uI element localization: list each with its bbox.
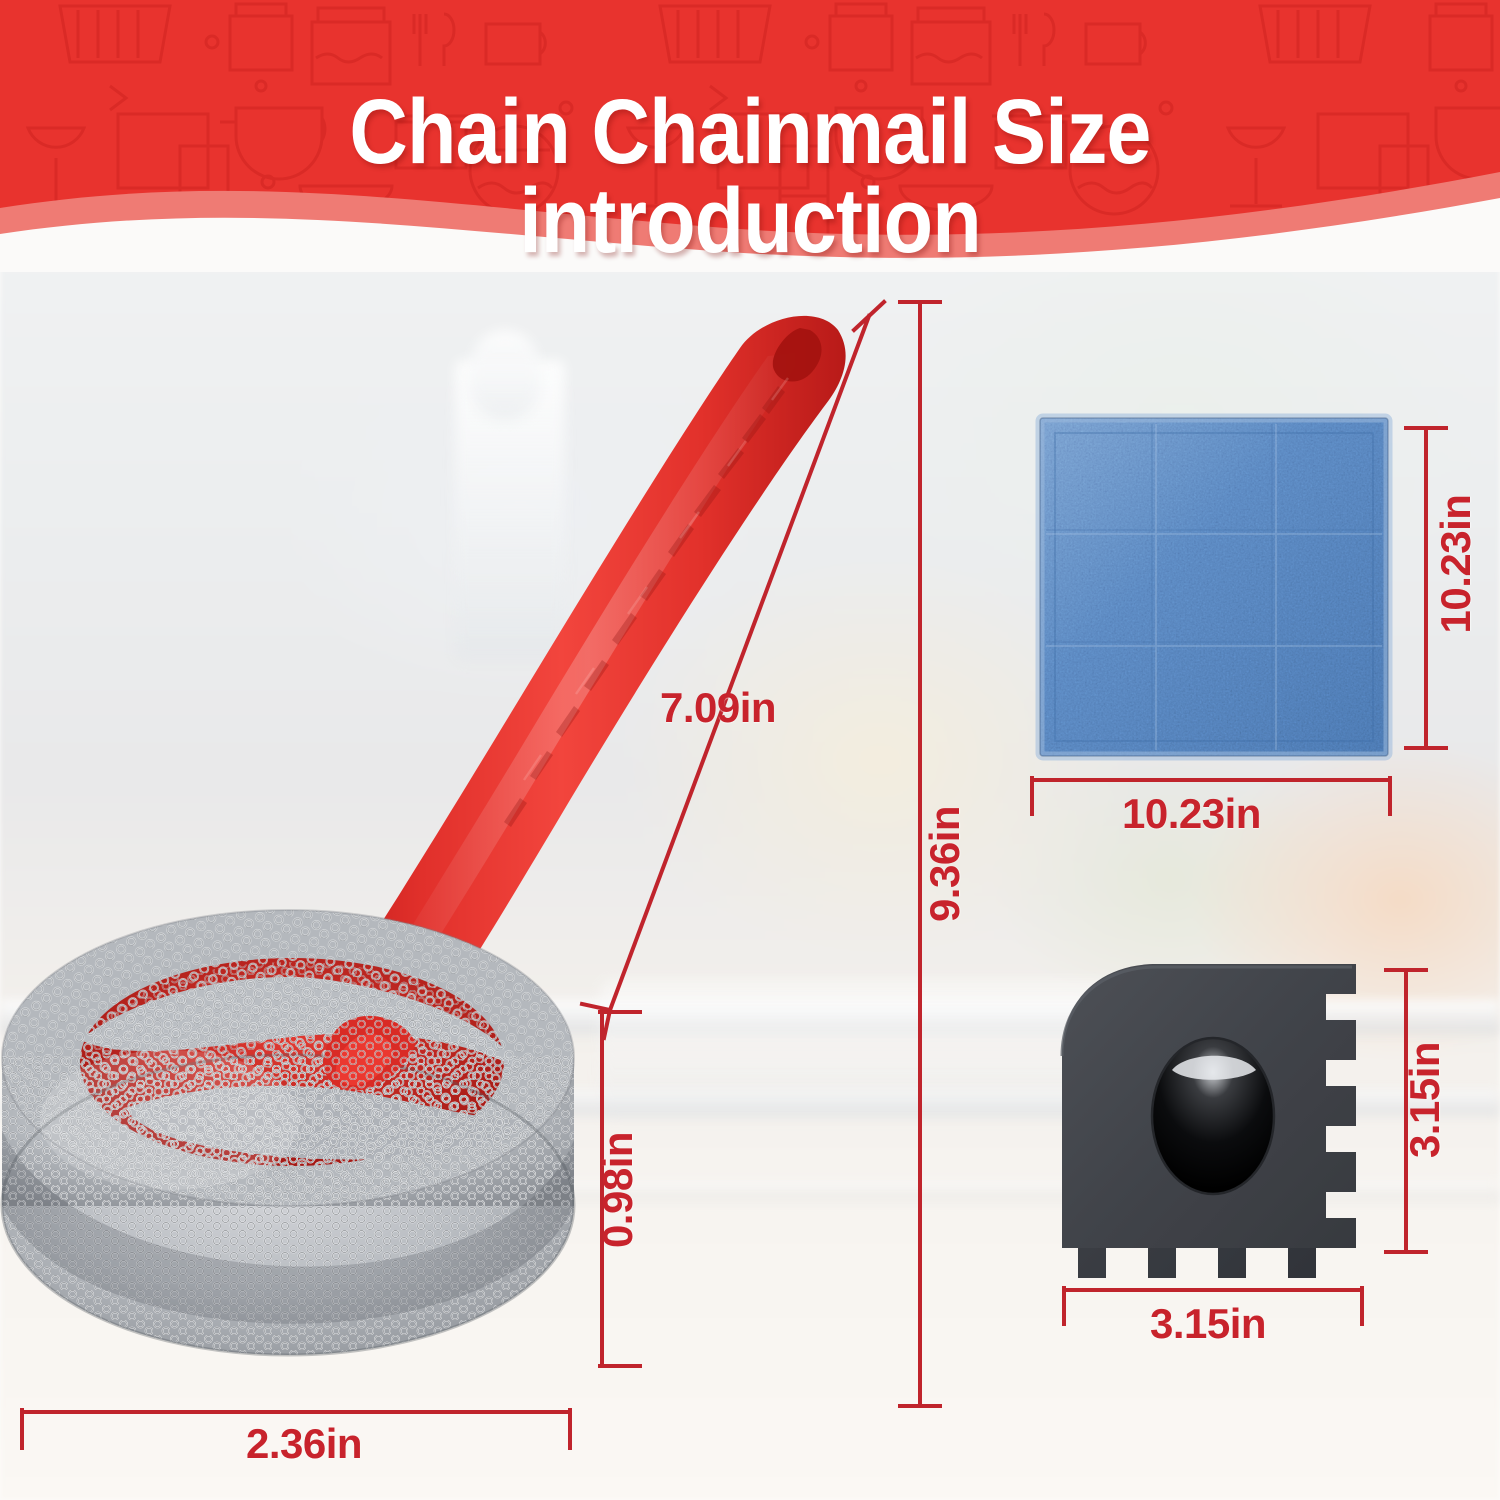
- page-title-line-1: Chain Chainmail Size: [349, 81, 1150, 183]
- dimension-label-scrubber-height: 0.98in: [594, 1105, 642, 1275]
- dimension-label-cloth-height: 10.23in: [1432, 464, 1480, 664]
- dimension-label-scraper-width: 3.15in: [1150, 1300, 1266, 1348]
- header-banner: Chain Chainmail Size introduction: [0, 0, 1500, 272]
- page-title-line-2: introduction: [90, 177, 1410, 266]
- dimension-label-scraper-height: 3.15in: [1401, 1015, 1449, 1185]
- product-size-infographic: 7.09in 9.36in 0.98in 2.36in 10.23in 10.2…: [0, 0, 1500, 1500]
- dimension-line-handle-length: [582, 302, 884, 1038]
- page-title: Chain Chainmail Size introduction: [90, 88, 1410, 266]
- dimension-label-handle-length: 7.09in: [660, 684, 776, 732]
- dimension-label-cloth-width: 10.23in: [1122, 790, 1261, 838]
- dimension-label-scrubber-width: 2.36in: [246, 1420, 362, 1468]
- dimension-label-overall-height: 9.36in: [921, 779, 969, 949]
